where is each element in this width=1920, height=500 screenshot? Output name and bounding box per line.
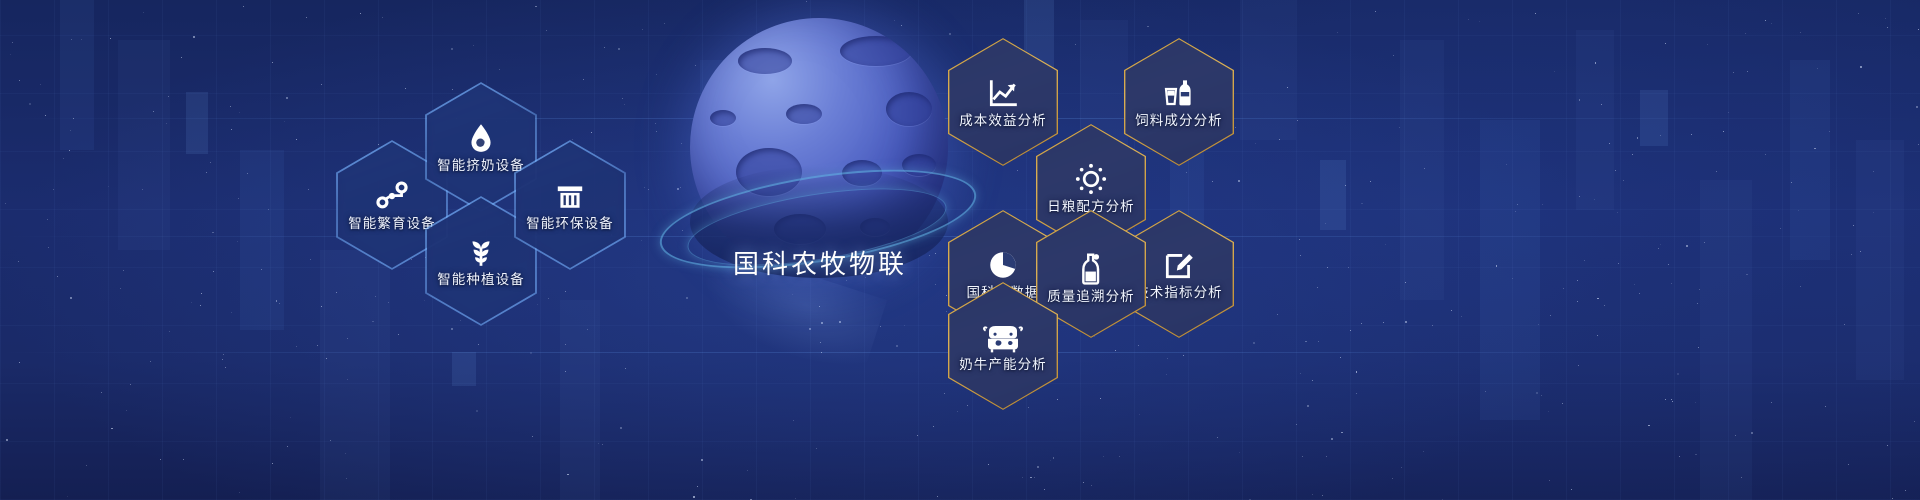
network-nodes-icon [375, 179, 409, 213]
background-block [1856, 140, 1904, 380]
planet-group: 国科农牧物联 [650, 8, 990, 378]
background-block [1700, 180, 1752, 500]
background-block [1640, 90, 1668, 146]
hex-label: 智能环保设备 [526, 217, 614, 232]
hex-label: 技术指标分析 [1135, 286, 1223, 301]
background-block [560, 300, 600, 500]
water-drop-icon [464, 121, 498, 155]
banner-background: 智能繁育设备 智能挤奶设备 [0, 0, 1920, 500]
hex-label: 智能繁育设备 [348, 217, 436, 232]
line-chart-icon [986, 76, 1020, 110]
trash-bin-icon [553, 179, 587, 213]
background-block [320, 250, 390, 500]
plant-sprout-icon [464, 235, 498, 269]
background-block [1790, 60, 1830, 260]
page-title: 国科农牧物联 [650, 244, 990, 281]
cow-icon [981, 320, 1025, 354]
pie-chart-icon [986, 248, 1020, 282]
hex-label: 奶牛产能分析 [959, 358, 1047, 373]
sun-icon [1074, 162, 1108, 196]
background-block [1576, 30, 1614, 210]
milk-bottle-cup-icon [1162, 76, 1196, 110]
background-block [1400, 40, 1444, 300]
hex-label: 质量追溯分析 [1047, 290, 1135, 305]
background-block [118, 40, 170, 250]
edit-pencil-icon [1162, 248, 1196, 282]
background-block [452, 352, 476, 386]
hex-label: 智能种植设备 [437, 273, 525, 288]
hex-label: 成本效益分析 [959, 114, 1047, 129]
hex-label: 饲料成分分析 [1135, 114, 1223, 129]
background-block [60, 0, 94, 150]
hex-label: 智能挤奶设备 [437, 159, 525, 174]
background-block [1480, 120, 1540, 420]
background-block [240, 150, 284, 330]
milk-bottle-icon [1074, 252, 1108, 286]
background-block [186, 92, 208, 154]
background-block [1320, 160, 1346, 230]
background-block [1240, 0, 1296, 140]
